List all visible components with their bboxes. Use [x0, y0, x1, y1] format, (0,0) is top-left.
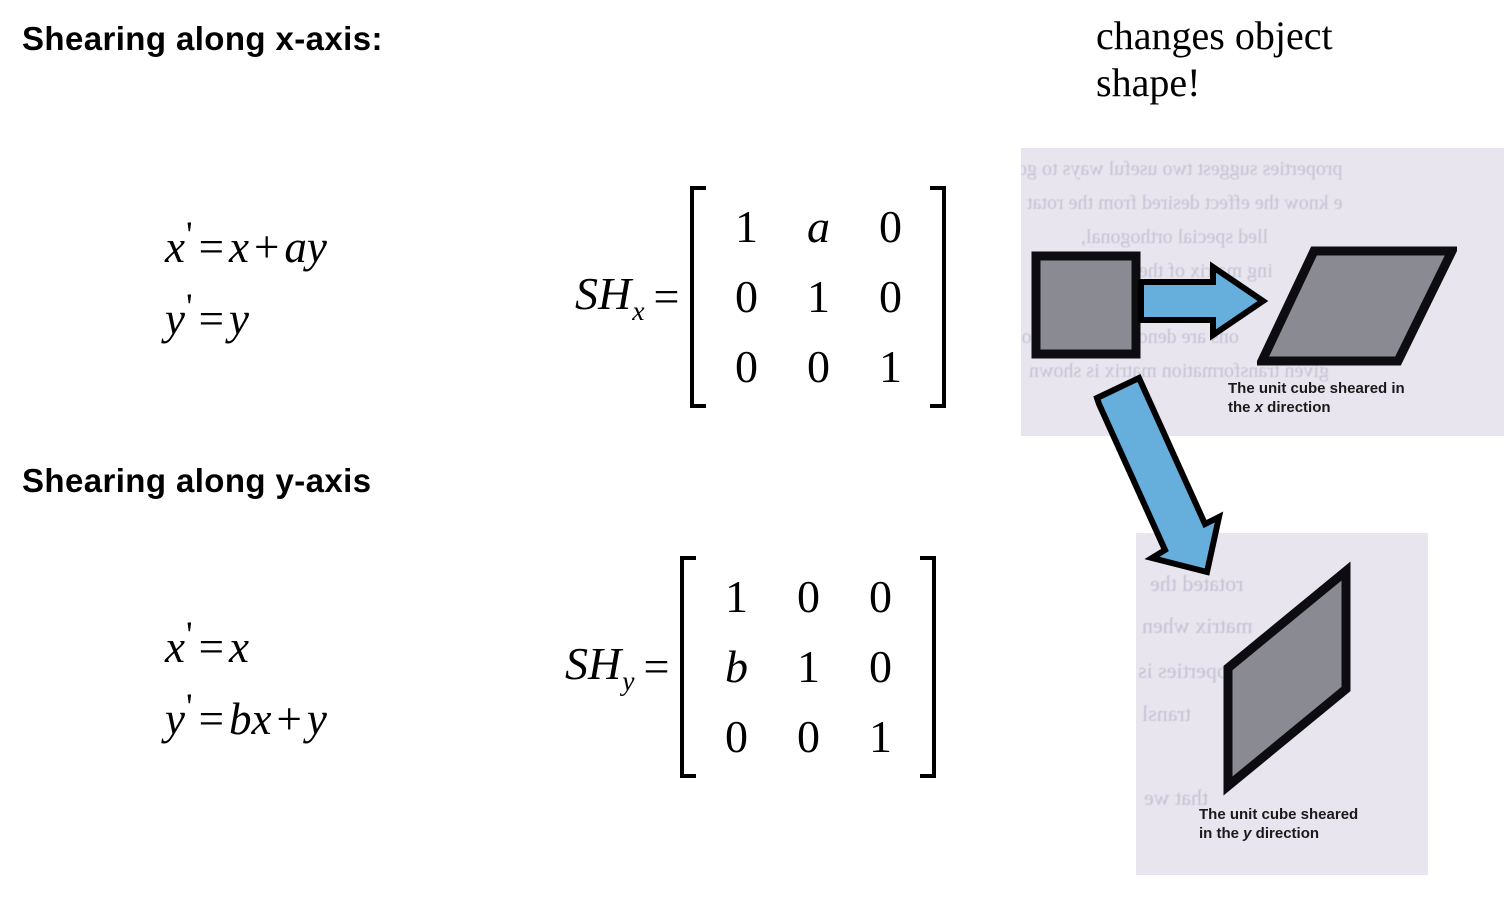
caption-post: direction	[1263, 399, 1331, 416]
eq-operator-equals: =	[194, 222, 229, 272]
matrix-cell: b	[700, 632, 772, 702]
matrix-cell: 1	[710, 192, 782, 262]
matrix-cell: 1	[844, 702, 916, 772]
caption-post: direction	[1252, 825, 1320, 842]
x-sheared-parallelogram-shape	[1257, 245, 1457, 368]
eq-operator-equals: =	[194, 694, 229, 744]
equations-shear-x: x'=x+ay y'=y	[165, 208, 327, 353]
eq-operator-plus: +	[272, 694, 307, 744]
ghost-text-line: e know the effect desired from the rotat	[1027, 192, 1343, 215]
eq-prime: '	[186, 614, 193, 655]
shear-x-arrow-icon	[1137, 262, 1267, 340]
equation-x-prime: x'=x+ay	[165, 208, 327, 280]
figure-bottom-caption: The unit cube sheared in the y direction	[1199, 805, 1358, 843]
bracket-right-icon	[920, 556, 936, 778]
matrix-cell: 0	[710, 332, 782, 402]
eq-rhs-term1: y	[229, 294, 249, 344]
matrix-equals-sign: =	[644, 270, 690, 323]
equation-x-prime: x'=x	[165, 608, 327, 680]
callout-changes-object-shape: changes object shape!	[1096, 12, 1426, 106]
caption-axis-var: y	[1243, 825, 1251, 842]
figure-top-caption: The unit cube sheared in the x direction	[1228, 379, 1405, 417]
matrix-equation-shear-x: SHx = 1 a 0 0 1 0 0 0 1	[575, 186, 946, 408]
eq-lhs: x	[165, 222, 185, 272]
eq-operator-equals: =	[194, 622, 229, 672]
matrix-cell: 1	[782, 262, 854, 332]
equations-shear-y: x'=x y'=bx+y	[165, 608, 327, 753]
caption-line-1: The unit cube sheared in	[1228, 379, 1405, 398]
matrix-equals-sign: =	[634, 640, 680, 693]
caption-line-1: The unit cube sheared	[1199, 805, 1358, 824]
eq-prime: '	[186, 214, 193, 255]
heading-shearing-x-axis: Shearing along x-axis:	[22, 20, 383, 58]
bracket-left-icon	[680, 556, 696, 778]
equation-y-prime: y'=bx+y	[165, 680, 327, 752]
slide-canvas: Shearing along x-axis: x'=x+ay y'=y SHx …	[0, 0, 1504, 914]
eq-operator-equals: =	[194, 294, 229, 344]
matrix-cell: 0	[844, 562, 916, 632]
callout-line-2: shape!	[1096, 59, 1426, 106]
eq-rhs-term1: x	[229, 222, 249, 272]
matrix-cell: 0	[854, 192, 926, 262]
matrix-cell: 1	[854, 332, 926, 402]
eq-rhs-term2: y	[307, 694, 327, 744]
matrix-cell: 0	[854, 262, 926, 332]
matrix-cell: 0	[782, 332, 854, 402]
matrix-cell: 1	[772, 632, 844, 702]
eq-operator-plus: +	[249, 222, 284, 272]
matrix-cell: a	[782, 192, 854, 262]
matrix-brackets: 1 a 0 0 1 0 0 0 1	[690, 186, 946, 408]
matrix-grid: 1 a 0 0 1 0 0 0 1	[706, 186, 930, 408]
caption-pre: the	[1228, 399, 1255, 416]
shear-y-arrow-icon	[1083, 378, 1223, 578]
caption-line-2: in the y direction	[1199, 824, 1358, 843]
matrix-cell: 0	[710, 262, 782, 332]
matrix-cell: 1	[700, 562, 772, 632]
bracket-left-icon	[690, 186, 706, 408]
matrix-name: SH	[575, 268, 631, 319]
ghost-text-line: lled special orthogonal,	[1081, 226, 1268, 249]
eq-prime: '	[186, 286, 193, 327]
ghost-text-line: properties suggest two useful ways to go	[1021, 158, 1343, 181]
bracket-right-icon	[930, 186, 946, 408]
figure-y-shear-scan: rotated the matrix when properties is tr…	[1136, 533, 1428, 875]
unit-square-shape	[1031, 251, 1141, 359]
matrix-subscript: x	[631, 295, 644, 326]
matrix-cell: 0	[772, 702, 844, 772]
matrix-name: SH	[565, 638, 621, 689]
matrix-label-shy: SHy	[565, 637, 634, 698]
ghost-text-line: transl	[1142, 701, 1191, 727]
eq-rhs-term1: x	[229, 622, 249, 672]
matrix-brackets: 1 0 0 b 1 0 0 0 1	[680, 556, 936, 778]
callout-line-1: changes object	[1096, 12, 1426, 59]
caption-pre: in the	[1199, 825, 1243, 842]
eq-rhs-term1: bx	[229, 694, 271, 744]
eq-lhs: y	[165, 694, 185, 744]
caption-line-2: the x direction	[1228, 398, 1405, 417]
matrix-equation-shear-y: SHy = 1 0 0 b 1 0 0 0 1	[565, 556, 936, 778]
caption-axis-var: x	[1255, 399, 1263, 416]
matrix-cell: 0	[844, 632, 916, 702]
eq-lhs: x	[165, 622, 185, 672]
heading-shearing-y-axis: Shearing along y-axis	[22, 462, 372, 500]
eq-rhs-term2: ay	[284, 222, 326, 272]
equation-y-prime: y'=y	[165, 280, 327, 352]
matrix-grid: 1 0 0 b 1 0 0 0 1	[696, 556, 920, 778]
matrix-subscript: y	[621, 665, 634, 696]
matrix-label-shx: SHx	[575, 267, 644, 328]
eq-prime: '	[186, 686, 193, 727]
eq-lhs: y	[165, 294, 185, 344]
matrix-cell: 0	[772, 562, 844, 632]
matrix-cell: 0	[700, 702, 772, 772]
